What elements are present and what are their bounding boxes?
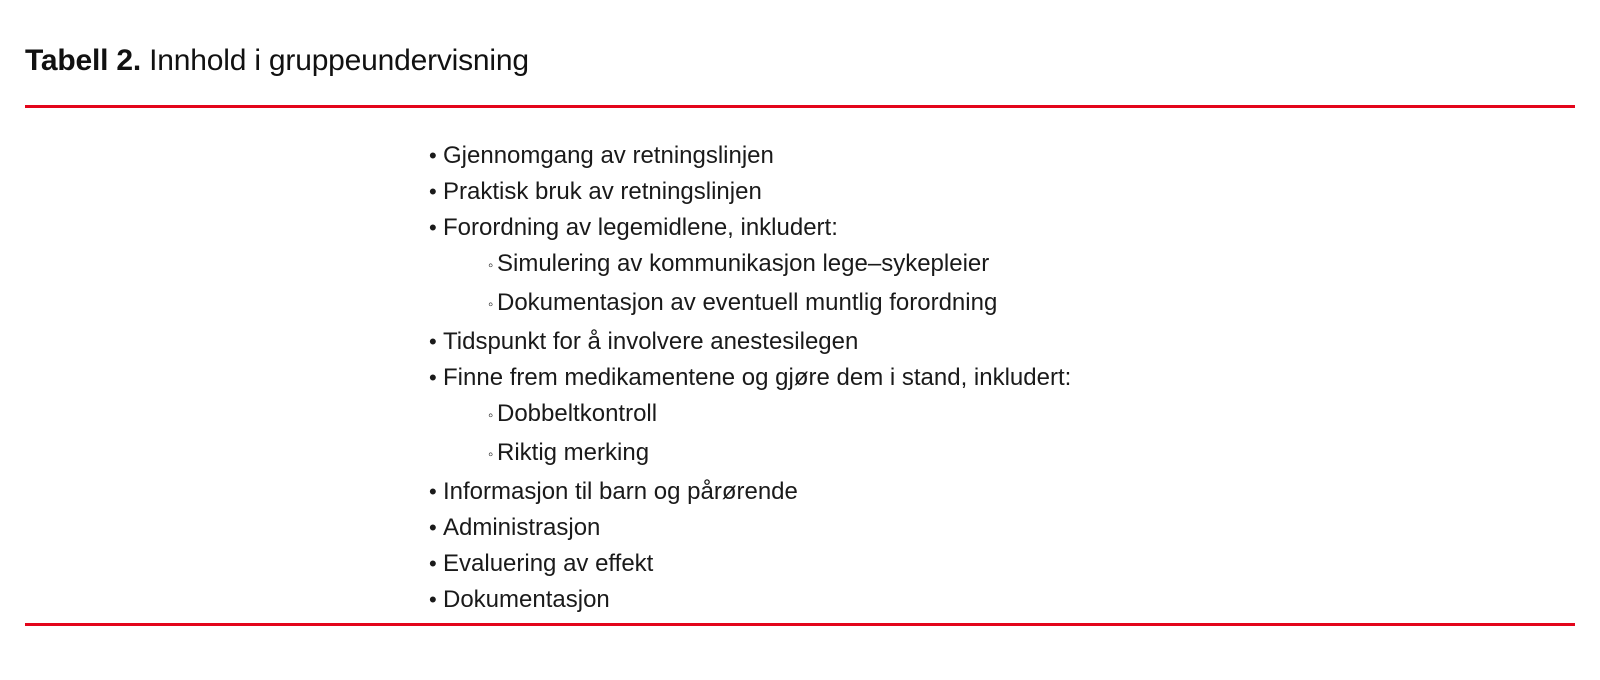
list-item: ◦Dokumentasjon av eventuell muntlig foro… bbox=[429, 285, 1189, 324]
list-item: •Gjennomgang av retningslinjen bbox=[429, 138, 1189, 174]
list-item-label: Evaluering av effekt bbox=[443, 546, 653, 582]
disc-bullet-icon: • bbox=[429, 474, 443, 510]
disc-bullet-icon: • bbox=[429, 546, 443, 582]
disc-bullet-icon: • bbox=[429, 360, 443, 396]
table-caption-title: Innhold i gruppeundervisning bbox=[149, 44, 529, 77]
list-item-label: Riktig merking bbox=[497, 435, 649, 471]
disc-bullet-icon: • bbox=[429, 324, 443, 360]
table-content-list: •Gjennomgang av retningslinjen•Praktisk … bbox=[429, 138, 1189, 618]
list-item-label: Praktisk bruk av retningslinjen bbox=[443, 174, 762, 210]
list-item: ◦Simulering av kommunikasjon lege–sykepl… bbox=[429, 246, 1189, 285]
disc-bullet-icon: • bbox=[429, 138, 443, 174]
list-item-label: Tidspunkt for å involvere anestesilegen bbox=[443, 324, 858, 360]
table-rule-top bbox=[25, 105, 1575, 108]
list-item-label: Dobbeltkontroll bbox=[497, 396, 657, 432]
list-item: •Dokumentasjon bbox=[429, 582, 1189, 618]
list-item: •Praktisk bruk av retningslinjen bbox=[429, 174, 1189, 210]
list-item: •Evaluering av effekt bbox=[429, 546, 1189, 582]
list-item: •Administrasjon bbox=[429, 510, 1189, 546]
list-item-label: Dokumentasjon bbox=[443, 582, 610, 618]
list-item-label: Finne frem medikamentene og gjøre dem i … bbox=[443, 360, 1071, 396]
table-caption-label: Tabell 2. bbox=[25, 44, 141, 77]
list-item: •Tidspunkt for å involvere anestesilegen bbox=[429, 324, 1189, 360]
table-figure: Tabell 2. Innhold i gruppeundervisning •… bbox=[0, 0, 1600, 680]
list-item-label: Dokumentasjon av eventuell muntlig foror… bbox=[497, 285, 997, 321]
circle-bullet-icon: ◦ bbox=[488, 287, 497, 323]
list-item-label: Gjennomgang av retningslinjen bbox=[443, 138, 774, 174]
list-item-label: Administrasjon bbox=[443, 510, 600, 546]
disc-bullet-icon: • bbox=[429, 210, 443, 246]
list-item: •Finne frem medikamentene og gjøre dem i… bbox=[429, 360, 1189, 396]
circle-bullet-icon: ◦ bbox=[488, 437, 497, 473]
list-item: ◦Dobbeltkontroll bbox=[429, 396, 1189, 435]
list-item: •Informasjon til barn og pårørende bbox=[429, 474, 1189, 510]
disc-bullet-icon: • bbox=[429, 510, 443, 546]
disc-bullet-icon: • bbox=[429, 174, 443, 210]
list-item-label: Simulering av kommunikasjon lege–sykeple… bbox=[497, 246, 989, 282]
disc-bullet-icon: • bbox=[429, 582, 443, 618]
list-item-label: Informasjon til barn og pårørende bbox=[443, 474, 798, 510]
list-item-label: Forordning av legemidlene, inkludert: bbox=[443, 210, 838, 246]
table-caption: Tabell 2. Innhold i gruppeundervisning bbox=[25, 44, 529, 78]
circle-bullet-icon: ◦ bbox=[488, 248, 497, 284]
list-item: ◦Riktig merking bbox=[429, 435, 1189, 474]
table-rule-bottom bbox=[25, 623, 1575, 626]
circle-bullet-icon: ◦ bbox=[488, 398, 497, 434]
list-item: •Forordning av legemidlene, inkludert: bbox=[429, 210, 1189, 246]
